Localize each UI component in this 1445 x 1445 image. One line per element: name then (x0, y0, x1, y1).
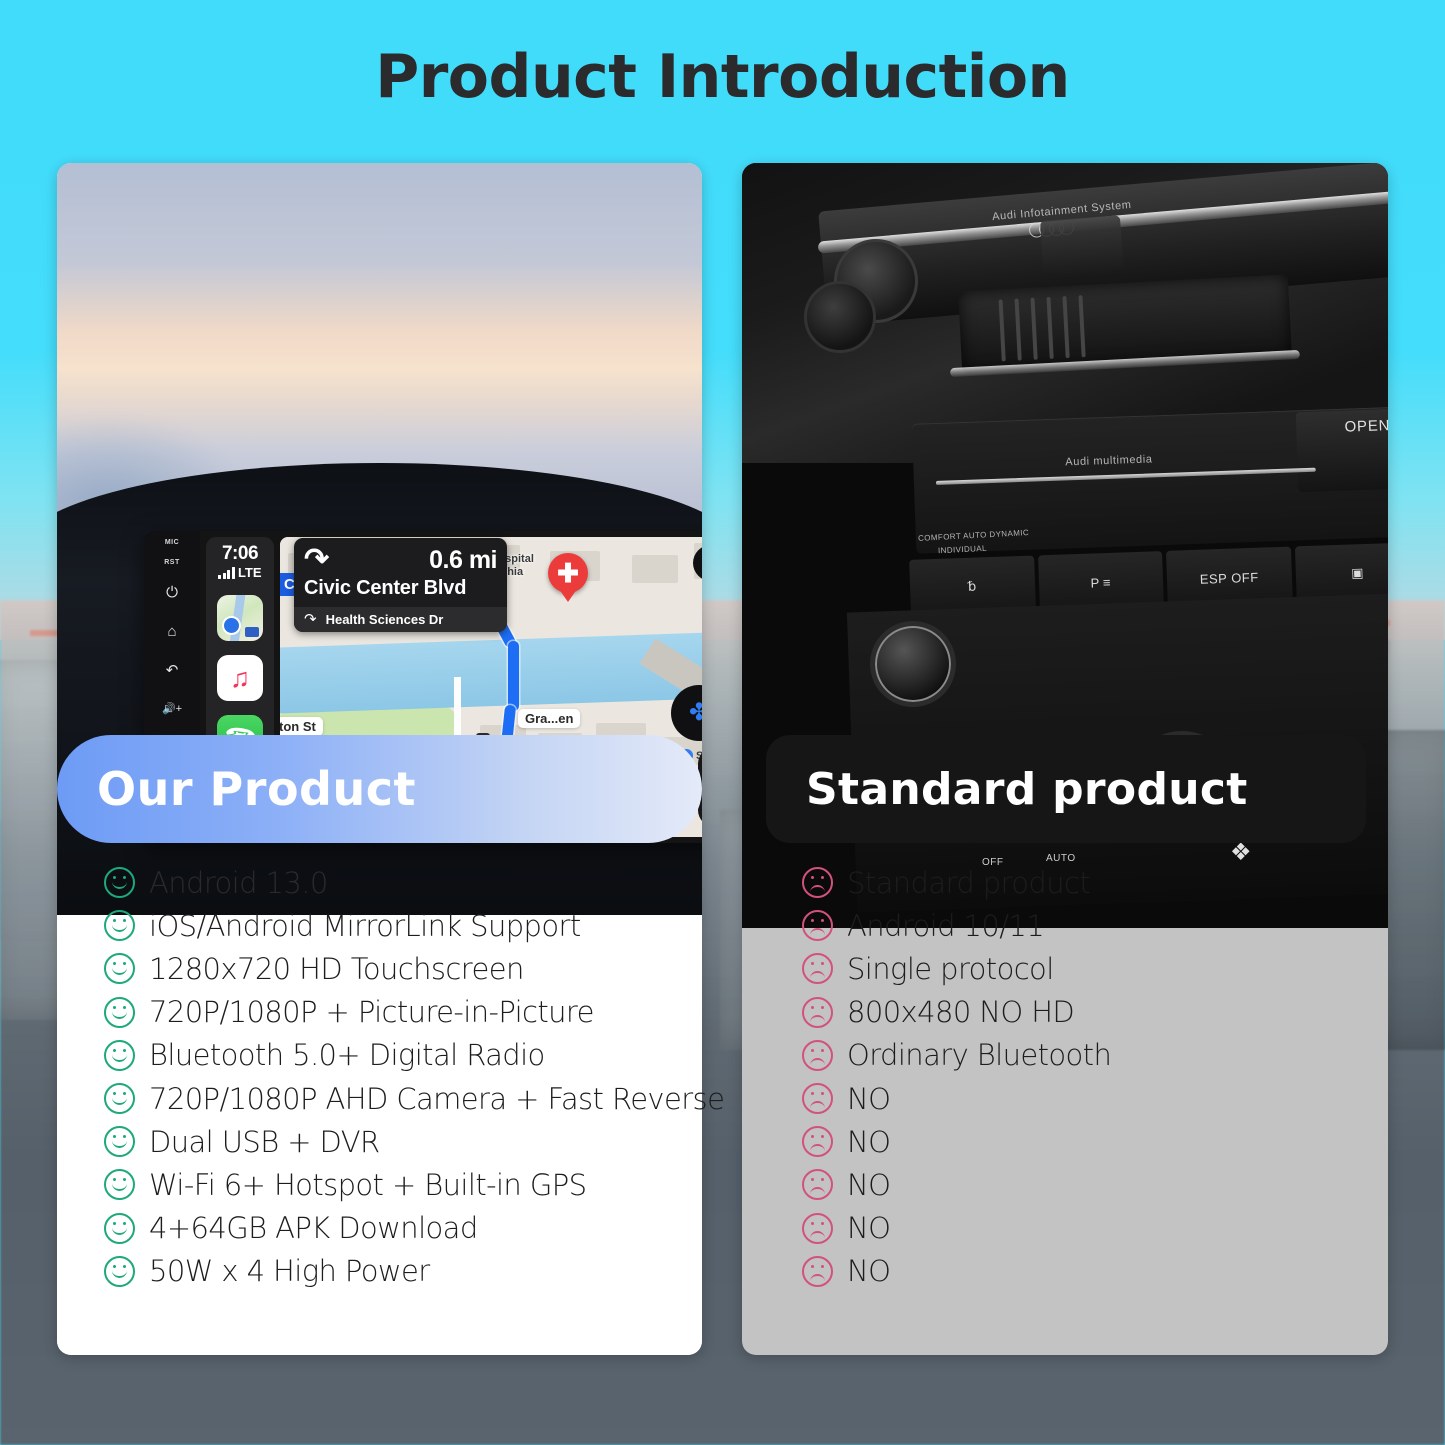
network-label: LTE (238, 566, 262, 579)
feature-row: Single protocol (760, 947, 1380, 990)
nav-distance: 0.6 mi (429, 546, 497, 575)
our-product-badge: Our Product (57, 735, 702, 843)
page-title: Product Introduction (0, 42, 1445, 112)
music-app-icon[interactable]: ♫ (217, 655, 263, 701)
feature-row: 720P/1080P AHD Camera + Fast Reverse (57, 1077, 757, 1120)
feature-label: Wi-Fi 6+ Hotspot + Built-in GPS (149, 1168, 586, 1202)
drive-mode-labels-2: INDIVIDUAL (938, 544, 987, 556)
carplay-clock: 7:06 (222, 543, 258, 565)
feature-row: Android 10/11 (760, 904, 1380, 947)
turn-right-icon: ↷ (304, 545, 329, 575)
open-button-label[interactable]: OPEN (1344, 417, 1388, 436)
sad-face-icon (802, 997, 833, 1028)
happy-face-icon (104, 1169, 135, 1200)
sad-face-icon (802, 1126, 833, 1157)
feature-row: Dual USB + DVR (57, 1120, 757, 1163)
feature-label: NO (847, 1211, 890, 1245)
sad-face-icon (802, 910, 833, 941)
feature-label: 1280x720 HD Touchscreen (149, 952, 524, 986)
feature-label: iOS/Android MirrorLink Support (149, 909, 581, 943)
happy-face-icon (104, 1126, 135, 1157)
happy-face-icon (104, 953, 135, 984)
feature-row: 720P/1080P + Picture-in-Picture (57, 991, 757, 1034)
feature-row: NO (760, 1207, 1380, 1250)
sad-face-icon (802, 953, 833, 984)
feature-row: Ordinary Bluetooth (760, 1034, 1380, 1077)
map-street-ton-st: ton St (280, 717, 323, 736)
feature-label: 720P/1080P AHD Camera + Fast Reverse (149, 1082, 724, 1116)
navigation-banner: ↷ 0.6 mi Civic Center Blvd ↷ Health Scie… (294, 538, 507, 632)
signal-bars-icon (218, 567, 235, 579)
happy-face-icon (104, 1083, 135, 1114)
happy-face-icon (104, 997, 135, 1028)
sad-face-icon (802, 1169, 833, 1200)
feature-label: NO (847, 1254, 890, 1288)
feature-row: 1280x720 HD Touchscreen (57, 947, 757, 990)
sad-face-icon (802, 1040, 833, 1071)
standard-product-badge-label: Standard product (806, 764, 1248, 815)
nav-street-name: Civic Center Blvd (294, 577, 507, 607)
volume-up-icon[interactable]: 🔊+ (159, 696, 185, 722)
maps-app-icon[interactable] (217, 595, 263, 641)
feature-label: 800x480 NO HD (847, 995, 1074, 1029)
feature-label: Bluetooth 5.0+ Digital Radio (149, 1038, 545, 1072)
feature-row: 800x480 NO HD (760, 991, 1380, 1034)
feature-label: 720P/1080P + Picture-in-Picture (149, 995, 594, 1029)
feature-row: Standard product (760, 861, 1380, 904)
feature-label: Standard product (847, 866, 1090, 900)
sad-face-icon (802, 1213, 833, 1244)
feature-label: Single protocol (847, 952, 1054, 986)
map-street-gra: Gra...en (518, 709, 580, 728)
feature-label: NO (847, 1168, 890, 1202)
turn-right-small-icon: ↷ (304, 612, 317, 627)
feature-label: Android 10/11 (847, 909, 1044, 943)
our-product-badge-label: Our Product (97, 762, 416, 816)
feature-row: NO (760, 1120, 1380, 1163)
feature-label: 50W x 4 High Power (149, 1254, 430, 1288)
feature-label: Android 13.0 (149, 866, 328, 900)
left-temp-dial[interactable] (870, 621, 956, 707)
signal-status: LTE (218, 566, 261, 579)
feature-label: NO (847, 1082, 890, 1116)
feature-label: Dual USB + DVR (149, 1125, 380, 1159)
feature-row: 4+64GB APK Download (57, 1207, 757, 1250)
feature-row: Bluetooth 5.0+ Digital Radio (57, 1034, 757, 1077)
mic-label: MIC (165, 539, 179, 546)
feature-row: Android 13.0 (57, 861, 757, 904)
power-icon[interactable]: ⏻ (159, 579, 185, 605)
feature-row: 50W x 4 High Power (57, 1250, 757, 1293)
standard-product-badge: Standard product (766, 735, 1366, 843)
feature-label: Ordinary Bluetooth (847, 1038, 1111, 1072)
feature-row: NO (760, 1077, 1380, 1120)
feature-row: iOS/Android MirrorLink Support (57, 904, 757, 947)
sad-face-icon (802, 1256, 833, 1287)
happy-face-icon (104, 910, 135, 941)
back-icon[interactable]: ↶ (159, 657, 185, 683)
our-product-feature-list: Android 13.0iOS/Android MirrorLink Suppo… (57, 861, 757, 1293)
hospital-pin-icon[interactable]: ✚ (548, 553, 588, 593)
feature-label: NO (847, 1125, 890, 1159)
happy-face-icon (104, 1040, 135, 1071)
happy-face-icon (104, 1256, 135, 1287)
feature-row: NO (760, 1163, 1380, 1206)
feature-row: Wi-Fi 6+ Hotspot + Built-in GPS (57, 1163, 757, 1206)
reset-label: RST (164, 559, 180, 566)
sad-face-icon (802, 1083, 833, 1114)
standard-product-feature-list: Standard productAndroid 10/11Single prot… (760, 861, 1380, 1293)
happy-face-icon (104, 1213, 135, 1244)
feature-label: 4+64GB APK Download (149, 1211, 478, 1245)
home-icon[interactable]: ⌂ (159, 618, 185, 644)
happy-face-icon (104, 867, 135, 898)
audi-multimedia-label: Audi multimedia (1065, 453, 1153, 468)
feature-row: NO (760, 1250, 1380, 1293)
nav-next-street: Health Sciences Dr (326, 612, 444, 627)
sad-face-icon (802, 867, 833, 898)
